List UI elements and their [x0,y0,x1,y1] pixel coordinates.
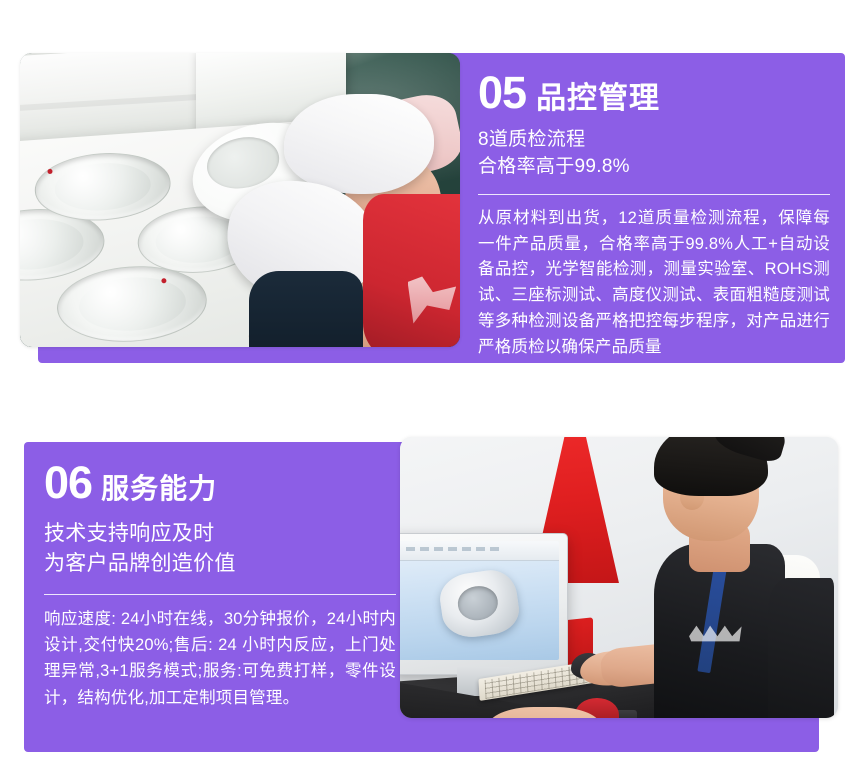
monitor-screen [400,541,559,660]
red-uniform-vest-icon [363,194,460,347]
section-number-05: 05 [478,70,526,115]
text-block-06: 06 服务能力 技术支持响应及时 为客户品牌创造价值 响应速度: 24小时在线，… [44,460,396,711]
section-title-06: 服务能力 [101,475,217,503]
heading-row-05: 05 品控管理 [478,70,830,115]
marketing-page: 05 品控管理 8道质检流程 合格率高于99.8% 从原材料到出货，12道质量检… [0,0,860,780]
subtitle-line-2-05: 合格率高于99.8% [478,154,830,181]
text-block-05: 05 品控管理 8道质检流程 合格率高于99.8% 从原材料到出货，12道质量检… [478,70,830,360]
subtitle-block-06: 技术支持响应及时 为客户品牌创造价值 [44,519,396,579]
subtitle-line-1-05: 8道质检流程 [478,127,830,154]
body-text-06: 响应速度: 24小时在线，30分钟报价，24小时内设计,交付快20%;售后: 2… [44,606,396,712]
cad-3d-part-model-icon [437,567,522,642]
subtitle-line-2-06: 为客户品牌创造价值 [44,549,396,579]
dark-shadow-region [249,271,363,347]
subtitle-line-1-06: 技术支持响应及时 [44,519,396,549]
heading-row-06: 06 服务能力 [44,460,396,505]
subtitle-block-05: 8道质检流程 合格率高于99.8% [478,127,830,181]
body-text-05: 从原材料到出货，12道质量检测流程，保障每一件产品质量，合格率高于99.8%人工… [478,206,830,360]
section-quality-control: 05 品控管理 8道质检流程 合格率高于99.8% 从原材料到出货，12道质量检… [0,0,860,395]
section-number-06: 06 [44,460,92,505]
black-vest-back-icon [768,578,834,719]
section-title-05: 品控管理 [536,84,660,114]
gloved-hand-upper-icon [284,94,434,194]
section-service-capability: 06 服务能力 技术支持响应及时 为客户品牌创造价值 响应速度: 24小时在线，… [0,395,860,780]
cad-toolbar-icon [400,541,559,561]
divider-rule-06 [44,594,396,595]
photo-quality-inspection [20,53,460,347]
photo-engineer-workstation [400,437,838,718]
divider-rule-05 [478,194,830,195]
tray-cavity-icon [55,262,210,347]
monitor-icon [400,533,568,676]
